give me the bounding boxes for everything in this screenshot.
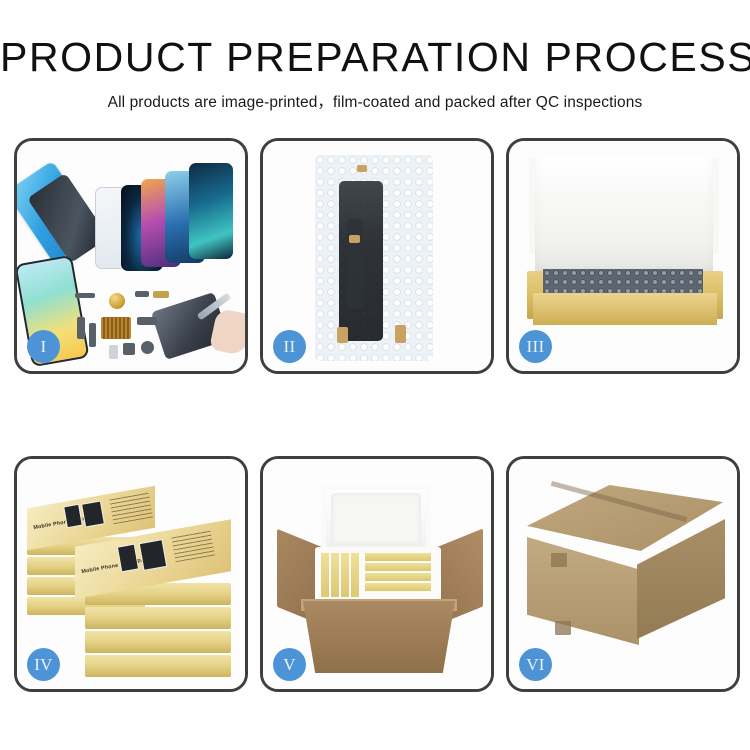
small-part-icon [75, 293, 95, 298]
step-badge-6: VI [519, 648, 552, 681]
process-steps-grid: I II III [14, 138, 740, 692]
box-label-photo-icon [81, 500, 105, 527]
packed-box-icon [365, 563, 431, 571]
step-1-image: I [17, 141, 245, 371]
step-badge-2: II [273, 330, 306, 363]
step-6-image: VI [509, 459, 737, 689]
box-label-photo-icon [139, 539, 167, 571]
foam-lid-inner-icon [331, 493, 421, 545]
packed-box-icon [331, 553, 339, 597]
packed-box-icon [365, 583, 431, 591]
stacked-box-icon [85, 655, 231, 677]
step-card-5[interactable]: V [260, 456, 494, 692]
small-part-icon [109, 345, 118, 359]
small-part-icon [137, 317, 157, 325]
small-part-icon [123, 343, 135, 355]
step-card-4[interactable]: Mobile Phone Spare Parts Mobile Phone Sp… [14, 456, 248, 692]
page-header: PRODUCT PREPARATION PROCESS All products… [0, 0, 750, 112]
small-part-icon [153, 291, 169, 298]
stacked-box-icon [85, 607, 231, 629]
small-part-icon [77, 317, 85, 339]
connector-grid-icon [101, 317, 131, 339]
yellow-box-front-icon [533, 293, 717, 325]
step-card-2[interactable]: II [260, 138, 494, 374]
small-part-icon [135, 291, 149, 297]
step-card-1[interactable]: I [14, 138, 248, 374]
carton-front-icon [527, 537, 639, 645]
packed-box-icon [365, 573, 431, 581]
carton-tape-icon [551, 553, 567, 567]
white-box-lid-icon [535, 157, 713, 275]
step-4-image: Mobile Phone Spare Parts Mobile Phone Sp… [17, 459, 245, 689]
tape-icon [349, 235, 360, 243]
stacked-box-icon [85, 631, 231, 653]
tape-icon [395, 325, 406, 343]
step-badge-1: I [27, 330, 60, 363]
small-part-icon [141, 341, 154, 354]
packed-box-icon [321, 553, 329, 597]
phone-display-teal-icon [189, 163, 233, 259]
page-title: PRODUCT PREPARATION PROCESS [0, 36, 750, 79]
box-stack-icon: Mobile Phone Spare Parts Mobile Phone Sp… [23, 475, 241, 675]
step-badge-5: V [273, 648, 306, 681]
step-5-image: V [263, 459, 491, 689]
packed-box-icon [365, 553, 431, 561]
step-card-3[interactable]: III [506, 138, 740, 374]
step-2-image: II [263, 141, 491, 371]
gold-component-icon [109, 293, 125, 309]
step-3-image: III [509, 141, 737, 371]
step-badge-4: IV [27, 648, 60, 681]
tape-icon [337, 327, 348, 343]
packed-box-icon [341, 553, 349, 597]
flex-cable-icon [347, 219, 363, 309]
small-part-icon [89, 323, 96, 347]
step-card-6[interactable]: VI [506, 456, 740, 692]
packed-box-icon [351, 553, 359, 597]
step-badge-3: III [519, 330, 552, 363]
carton-body-icon [303, 601, 455, 673]
bubble-wrapped-contents-icon [543, 269, 703, 295]
page-subtitle: All products are image-printed，film-coat… [0, 90, 750, 112]
tape-icon [357, 165, 367, 172]
carton-tape-icon [555, 621, 571, 635]
